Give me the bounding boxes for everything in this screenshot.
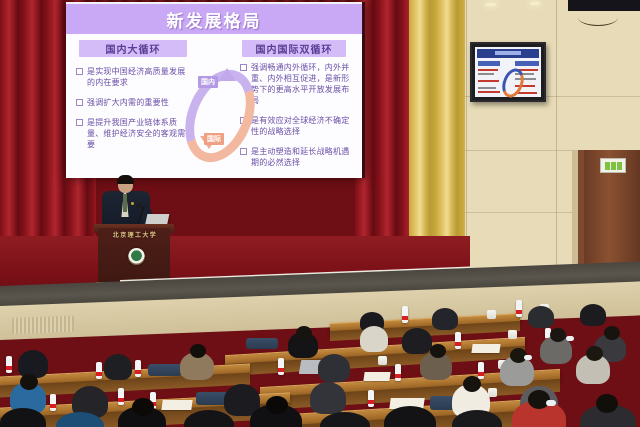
notebook (161, 400, 192, 410)
ceiling-light (486, 3, 496, 6)
attendee-head (463, 376, 481, 392)
attendee (528, 306, 554, 328)
slide-body: 国内大循环 国内国际双循环 是实现中国经济高质量发展的内在要求 强调扩大内需的重… (66, 34, 362, 178)
water-bottle (118, 388, 124, 405)
water-bottle (455, 332, 461, 349)
bullet-item: 是实现中国经济高质量发展的内在要求 (76, 66, 188, 88)
water-bottle (135, 360, 141, 377)
slide-title: 新发展格局 (167, 7, 262, 32)
water-bottle (96, 362, 102, 379)
attendee-head (20, 374, 38, 390)
water-bottle (278, 358, 284, 375)
cup (487, 310, 496, 319)
attendee (18, 350, 48, 378)
attendee (360, 326, 388, 352)
bullet-square-icon (240, 148, 247, 155)
bullet-item: 是主动塑造和延长战略机遇期的必然选择 (240, 146, 352, 168)
water-bottle (6, 356, 12, 373)
monitor-text-line (478, 91, 500, 93)
attendee-head (190, 344, 206, 358)
podium-nameplate: 北京理工大学 (104, 230, 166, 239)
face-mask (524, 355, 532, 360)
lecture-hall-photo: 新发展格局 国内大循环 国内国际双循环 是实现中国经济高质量发展的内在要求 强调… (0, 0, 640, 427)
cycle-label-international: 国际 (204, 133, 224, 145)
slide-column-heading-right: 国内国际双循环 (242, 40, 346, 57)
bullet-square-icon (76, 99, 83, 106)
face-mask (546, 400, 556, 406)
water-bottle (395, 364, 401, 381)
wall-monitor (470, 42, 546, 102)
monitor-cycle-icon (498, 65, 527, 100)
attendee (318, 354, 350, 382)
water-bottle (50, 394, 56, 411)
slide-header-band: 新发展格局 (66, 4, 362, 34)
slide-bullets-left: 是实现中国经济高质量发展的内在要求 强调扩大内需的重要性 是提升我国产业链体系质… (76, 66, 188, 159)
attendee (402, 328, 432, 354)
attendee (580, 304, 606, 326)
projection-screen: 新发展格局 国内大循环 国内国际双循环 是实现中国经济高质量发展的内在要求 强调… (66, 2, 365, 178)
monitor-column-heading (478, 61, 500, 66)
water-bottle (402, 306, 408, 323)
speaker-lapel-pin (131, 202, 134, 205)
stage-curtain-gold (409, 0, 465, 244)
monitor-text-line (478, 73, 494, 75)
circular-flow-diagram: 国内 国际 (184, 54, 240, 164)
bullet-text: 是有效应对全球经济不确定性的战略选择 (251, 115, 352, 137)
bullet-text: 强调畅通内外循环，内外并重、内外相互促进，是新形势下的更高水平开放发展布局 (251, 62, 352, 106)
bullet-text: 强调扩大内需的重要性 (87, 97, 169, 108)
attendee (310, 382, 346, 414)
attendee-head (550, 328, 566, 342)
notebook (471, 344, 500, 353)
monitor-text-line (478, 69, 498, 71)
attendee-head (604, 326, 620, 340)
podium-nameplate-text: 北京理工大学 (113, 230, 157, 239)
bullet-text: 是提升我国产业链体系质量、维护经济安全的客观需要 (87, 117, 188, 150)
bullet-square-icon (76, 68, 83, 75)
bullet-item: 强调扩大内需的重要性 (76, 97, 188, 108)
wall-seam (556, 0, 557, 310)
attendee-head (266, 396, 288, 414)
water-bottle (368, 390, 374, 407)
monitor-screen (475, 47, 541, 97)
slide-column-heading-left: 国内大循环 (79, 40, 187, 57)
attendee-head (430, 344, 446, 358)
bullet-square-icon (76, 119, 83, 126)
speaker-tie (123, 194, 127, 212)
cycle-label-domestic: 国内 (198, 76, 218, 88)
attendee-head (132, 398, 154, 416)
attendee (104, 354, 132, 380)
bullet-text: 是主动塑造和延长战略机遇期的必然选择 (251, 146, 352, 168)
monitor-text-line (478, 87, 496, 89)
attendee-head (296, 326, 312, 340)
monitor-text-line (478, 80, 499, 82)
notebook (363, 372, 390, 381)
water-bottle (516, 300, 522, 317)
attendee-head (586, 346, 603, 361)
attendee (432, 308, 458, 330)
bullet-text: 是实现中国经济高质量发展的内在要求 (87, 66, 188, 88)
face-mask (566, 336, 574, 341)
attendee-head (596, 394, 618, 413)
audience-area (0, 300, 640, 427)
cup (378, 356, 387, 365)
monitor-title-band (477, 49, 539, 58)
slide-bullets-right: 强调畅通内外循环，内外并重、内外相互促进，是新形势下的更高水平开放发展布局 是有… (240, 62, 352, 177)
university-emblem (128, 248, 145, 265)
laptop-bag (148, 364, 182, 376)
laptop-bag (246, 338, 278, 349)
water-bottle (478, 362, 484, 379)
ceiling-light (530, 2, 540, 5)
cup (508, 330, 517, 339)
monitor-column-heading (515, 61, 539, 66)
bullet-item: 是有效应对全球经济不确定性的战略选择 (240, 115, 352, 137)
arrow-up-icon (218, 68, 236, 81)
bullet-item: 强调畅通内外循环，内外并重、内外相互促进，是新形势下的更高水平开放发展布局 (240, 62, 352, 106)
column-heading-label: 国内大循环 (106, 41, 161, 56)
speaker-hair (117, 175, 134, 184)
bullet-item: 是提升我国产业链体系质量、维护经济安全的客观需要 (76, 117, 188, 150)
bullet-square-icon (240, 64, 247, 71)
column-heading-label: 国内国际双循环 (256, 41, 333, 56)
hanging-cable (578, 9, 618, 26)
exit-sign-icon (600, 158, 626, 173)
microphone-icon (136, 203, 142, 209)
